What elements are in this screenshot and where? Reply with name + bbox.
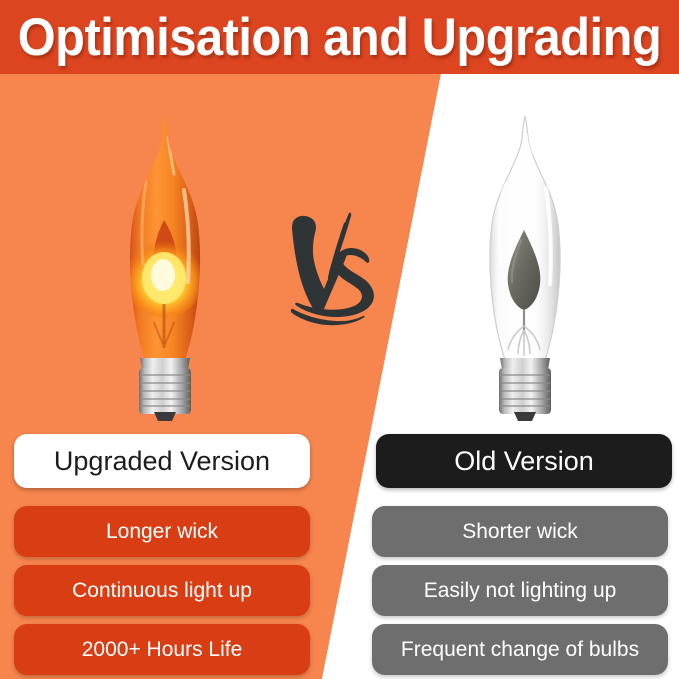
header-banner: Optimisation and Upgrading bbox=[0, 0, 679, 74]
page-title: Optimisation and Upgrading bbox=[27, 0, 652, 74]
old-version-label: Old Version bbox=[376, 434, 672, 488]
versus-badge bbox=[283, 205, 385, 335]
old-feature-item: Shorter wick bbox=[372, 506, 668, 557]
old-feature-item: Easily not lighting up bbox=[372, 565, 668, 616]
upgraded-feature-item: Continuous light up bbox=[14, 565, 310, 616]
upgraded-feature-item: 2000+ Hours Life bbox=[14, 624, 310, 675]
bulb-screw-base bbox=[139, 358, 191, 421]
upgraded-version-label: Upgraded Version bbox=[14, 434, 310, 488]
old-feature-item: Frequent change of bulbs bbox=[372, 624, 668, 675]
upgraded-bulb-image bbox=[106, 112, 224, 422]
comparison-infographic: Optimisation and Upgrading bbox=[0, 0, 679, 679]
old-bulb-image bbox=[466, 112, 584, 422]
bulb-screw-base bbox=[499, 358, 551, 421]
upgraded-feature-item: Longer wick bbox=[14, 506, 310, 557]
